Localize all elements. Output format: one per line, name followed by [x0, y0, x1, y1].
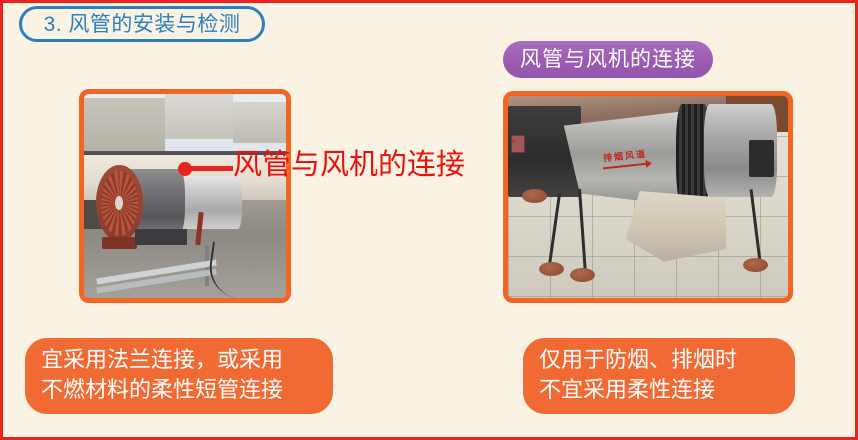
- section-badge-duct-fan-connection: 风管与风机的连接: [503, 41, 713, 78]
- vibration-pad: [522, 189, 547, 203]
- slide-canvas: 3. 风管的安装与检测 风管与风机的连接: [0, 0, 858, 440]
- caption-left-line-2: 不燃材料的柔性短管连接: [41, 375, 317, 405]
- cabinet-panel: [511, 135, 525, 152]
- background-building-center: [165, 94, 234, 139]
- cabinet-knob-icon: [512, 139, 515, 144]
- vibration-pad: [743, 258, 768, 272]
- photo-right-content: 排烟风道: [508, 96, 788, 298]
- callout-leader-line: [189, 166, 233, 171]
- caption-left: 宜采用法兰连接，或采用 不燃材料的柔性短管连接: [25, 338, 333, 414]
- photo-left-content: [84, 94, 286, 298]
- fan-base-foot: [102, 237, 136, 249]
- vibration-pad: [539, 262, 564, 276]
- vibration-pad: [570, 268, 595, 282]
- slide-title-badge: 3. 风管的安装与检测: [19, 6, 265, 42]
- caption-right-line-2: 不宜采用柔性连接: [539, 375, 779, 405]
- control-cabinet: [508, 106, 581, 197]
- fan-support-legs: [135, 229, 188, 245]
- photo-left-fan-duct: [79, 89, 291, 303]
- photo-right-smoke-duct: 排烟风道: [503, 91, 793, 303]
- callout-label: 风管与风机的连接: [233, 151, 465, 180]
- background-building-right: [233, 102, 286, 143]
- fan-motor-box: [749, 140, 774, 176]
- caption-right-line-1: 仅用于防烟、排烟时: [539, 345, 779, 375]
- page-title: 3. 风管的安装与检测: [44, 14, 241, 35]
- caption-right: 仅用于防烟、排烟时 不宜采用柔性连接: [523, 338, 795, 414]
- caption-left-line-1: 宜采用法兰连接，或采用: [41, 345, 317, 375]
- section-badge-label: 风管与风机的连接: [520, 49, 696, 70]
